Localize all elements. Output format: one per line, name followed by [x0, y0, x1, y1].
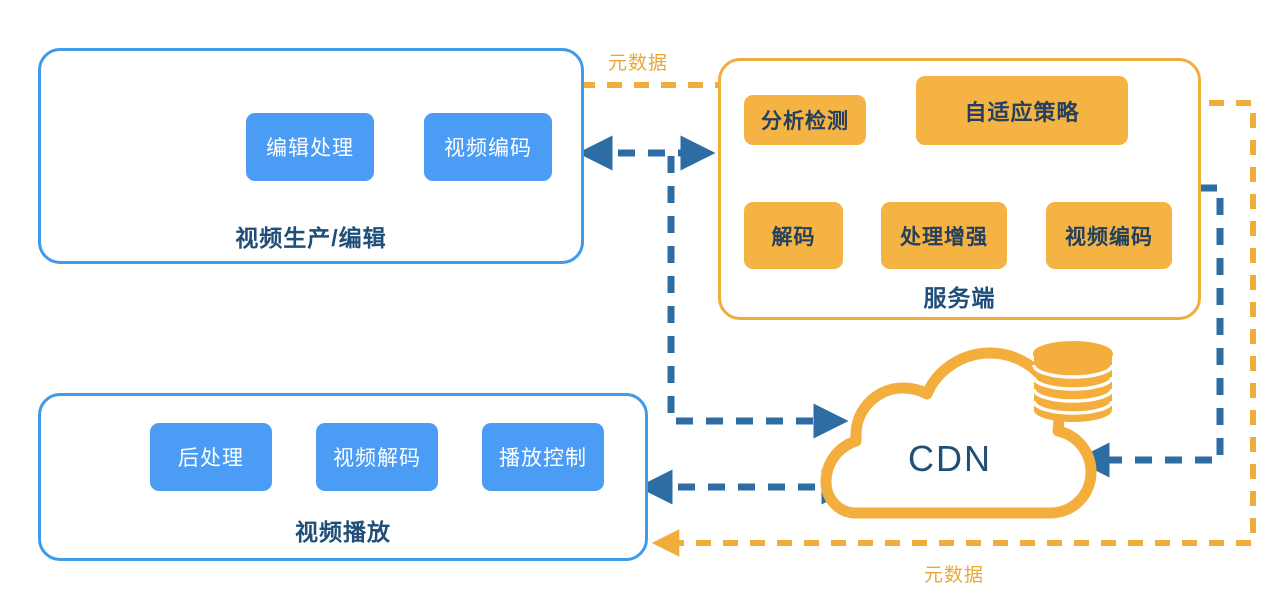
node-decode[interactable]: 解码: [744, 202, 843, 269]
group-server-title: 服务端: [721, 279, 1198, 313]
node-video-encode-server[interactable]: 视频编码: [1046, 202, 1172, 269]
metadata-label-top: 元数据: [608, 48, 668, 75]
database-stack-icon: [1034, 342, 1112, 422]
node-video-decode[interactable]: 视频解码: [316, 423, 438, 491]
node-post-process[interactable]: 后处理: [150, 423, 272, 491]
cdn-label: CDN: [908, 438, 992, 480]
node-video-encode[interactable]: 视频编码: [424, 113, 552, 181]
group-production-title: 视频生产/编辑: [41, 219, 581, 253]
node-edit-process[interactable]: 编辑处理: [246, 113, 374, 181]
node-process-enhance[interactable]: 处理增强: [881, 202, 1007, 269]
node-analysis-detect[interactable]: 分析检测: [744, 95, 866, 145]
group-playback-title: 视频播放: [41, 513, 645, 547]
metadata-label-bottom: 元数据: [924, 560, 984, 587]
node-play-control[interactable]: 播放控制: [482, 423, 604, 491]
diagram-canvas: server (blue dashed) ---------- --> play…: [0, 0, 1280, 595]
node-adaptive-policy[interactable]: 自适应策略: [916, 76, 1128, 145]
